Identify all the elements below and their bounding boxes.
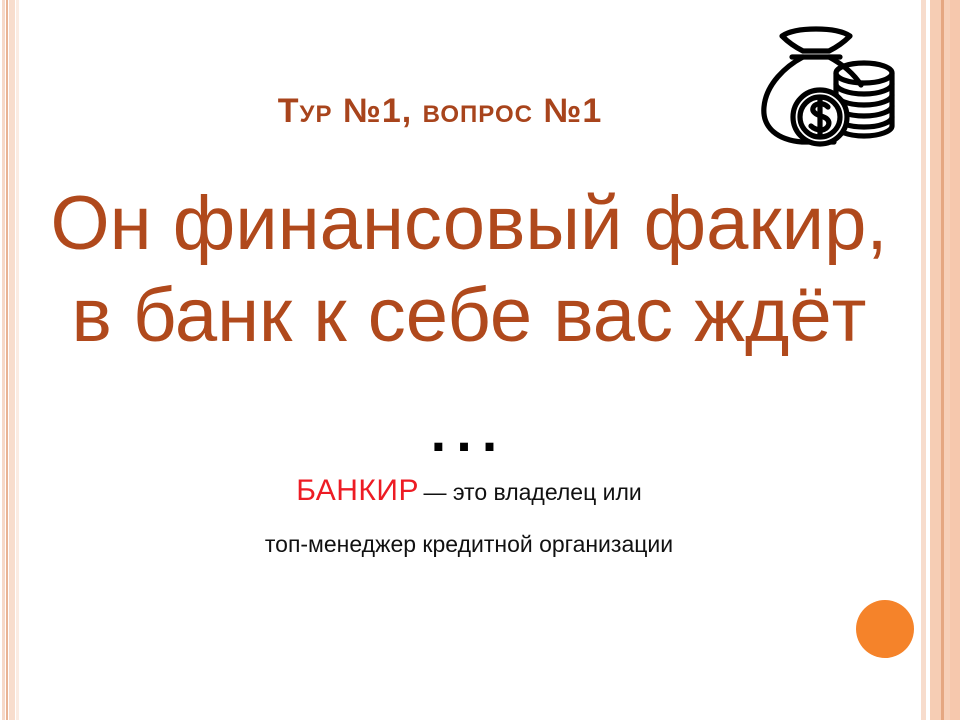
page-title: Тур №1, вопрос №1 [0,92,880,131]
right-stripe-5 [950,0,960,720]
answer-definition-part-1: — это владелец или [423,479,641,505]
riddle-text: Он финансовый факир, в банк к себе вас ж… [0,178,938,362]
answer-keyword: БАНКИР [296,474,419,507]
slide-canvas: Тур №1, вопрос №1 Он финансовый факир, в… [0,0,960,720]
riddle-line-2: в банк к себе вас ждёт [0,270,938,362]
riddle-ellipsis: ... [0,404,938,460]
money-bag-with-coins-icon [756,18,908,158]
answer-block: БАНКИР — это владелец или топ-менеджер к… [0,474,938,561]
answer-line-2: топ-менеджер кредитной организации [0,527,938,561]
orange-circle-decoration [856,600,914,658]
riddle-line-1: Он финансовый факир, [0,178,938,270]
answer-line-1: БАНКИР — это владелец или [0,474,938,513]
